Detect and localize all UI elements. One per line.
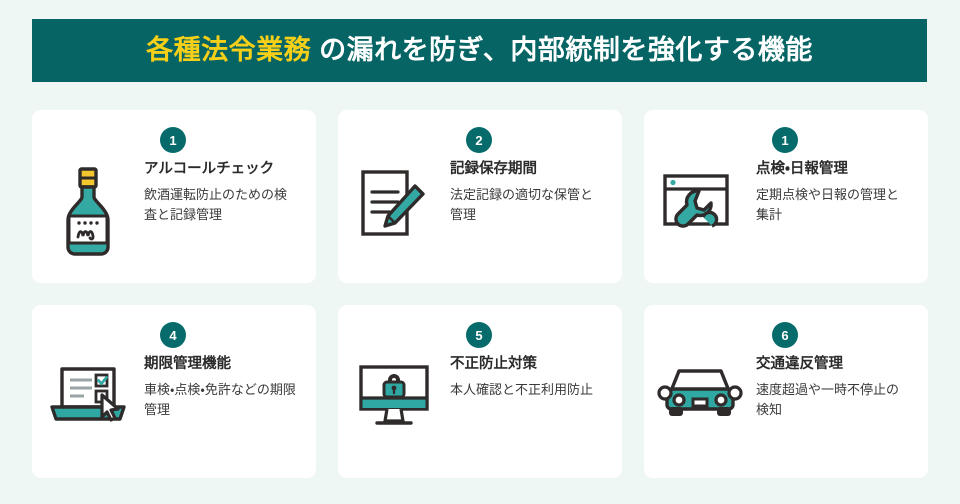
card-body: 不正防止対策 本人確認と不正利用防止 [338, 355, 622, 431]
feature-card-alcohol-check[interactable]: 1 アルコールチェック 飲酒運転防止のための検査と記録管理 [32, 110, 316, 283]
card-body: 記録保存期間 法定記録の適切な保管と管理 [338, 160, 622, 246]
laptop-checklist-cursor-icon [32, 355, 144, 427]
card-description: 速度超過や一時不停止の検知 [756, 380, 908, 420]
page-title: 各種法令業務 の漏れを防ぎ、内部統制を強化する機能 [146, 37, 813, 64]
card-text: 不正防止対策 本人確認と不正利用防止 [450, 355, 605, 400]
card-number-badge: 1 [160, 127, 186, 153]
card-title: 期限管理機能 [144, 355, 296, 373]
feature-card-fraud-prevention[interactable]: 5 不正防止対策 本人確認と不正利用防止 [338, 305, 622, 478]
card-title: アルコールチェック [144, 160, 296, 178]
feature-card-grid: 1 アルコールチェック 飲酒運転防止のための検査と記録管理 [32, 110, 928, 478]
card-number-badge: 1 [772, 127, 798, 153]
car-front-icon [644, 355, 756, 423]
feature-card-record-retention[interactable]: 2 記録保存期間 法定記録の適切な保管と管理 [338, 110, 622, 283]
card-text: 記録保存期間 法定記録の適切な保管と管理 [450, 160, 614, 225]
card-description: 車検・点検・免許などの期限管理 [144, 380, 296, 420]
card-title: 記録保存期間 [450, 160, 602, 178]
card-number-badge: 5 [466, 322, 492, 348]
card-number-badge: 2 [466, 127, 492, 153]
card-title: 不正防止対策 [450, 355, 593, 373]
header-banner: 各種法令業務 の漏れを防ぎ、内部統制を強化する機能 [32, 19, 927, 82]
liquor-bottle-icon [32, 160, 144, 258]
card-body: 期限管理機能 車検・点検・免許などの期限管理 [32, 355, 316, 427]
page-title-rest: の漏れを防ぎ、内部統制を強化する機能 [311, 35, 813, 65]
card-description: 本人確認と不正利用防止 [450, 380, 593, 400]
card-number-badge: 6 [772, 322, 798, 348]
card-body: 交通違反管理 速度超過や一時不停止の検知 [644, 355, 928, 423]
document-pencil-icon [338, 160, 450, 246]
card-description: 飲酒運転防止のための検査と記録管理 [144, 185, 296, 225]
card-description: 法定記録の適切な保管と管理 [450, 185, 602, 225]
feature-card-traffic-violation[interactable]: 6 交通違反管理 速度超過や一時不停止の検知 [644, 305, 928, 478]
card-body: アルコールチェック 飲酒運転防止のための検査と記録管理 [32, 160, 316, 258]
monitor-lock-icon [338, 355, 450, 431]
browser-wrench-icon [644, 160, 756, 242]
card-text: 点検・日報管理 定期点検や日報の管理と集計 [756, 160, 920, 225]
card-number-badge: 4 [160, 322, 186, 348]
card-body: 点検・日報管理 定期点検や日報の管理と集計 [644, 160, 928, 242]
card-text: アルコールチェック 飲酒運転防止のための検査と記録管理 [144, 160, 308, 225]
card-title: 交通違反管理 [756, 355, 908, 373]
feature-card-deadline-management[interactable]: 4 期限管理機能 車検・点検・免許などの期限管理 [32, 305, 316, 478]
card-text: 期限管理機能 車検・点検・免許などの期限管理 [144, 355, 308, 420]
card-text: 交通違反管理 速度超過や一時不停止の検知 [756, 355, 920, 420]
card-title: 点検・日報管理 [756, 160, 908, 178]
feature-card-inspection-report[interactable]: 1 点検・日報管理 定期点検や日報の管理と集計 [644, 110, 928, 283]
page-title-highlight: 各種法令業務 [146, 35, 311, 65]
card-description: 定期点検や日報の管理と集計 [756, 185, 908, 225]
